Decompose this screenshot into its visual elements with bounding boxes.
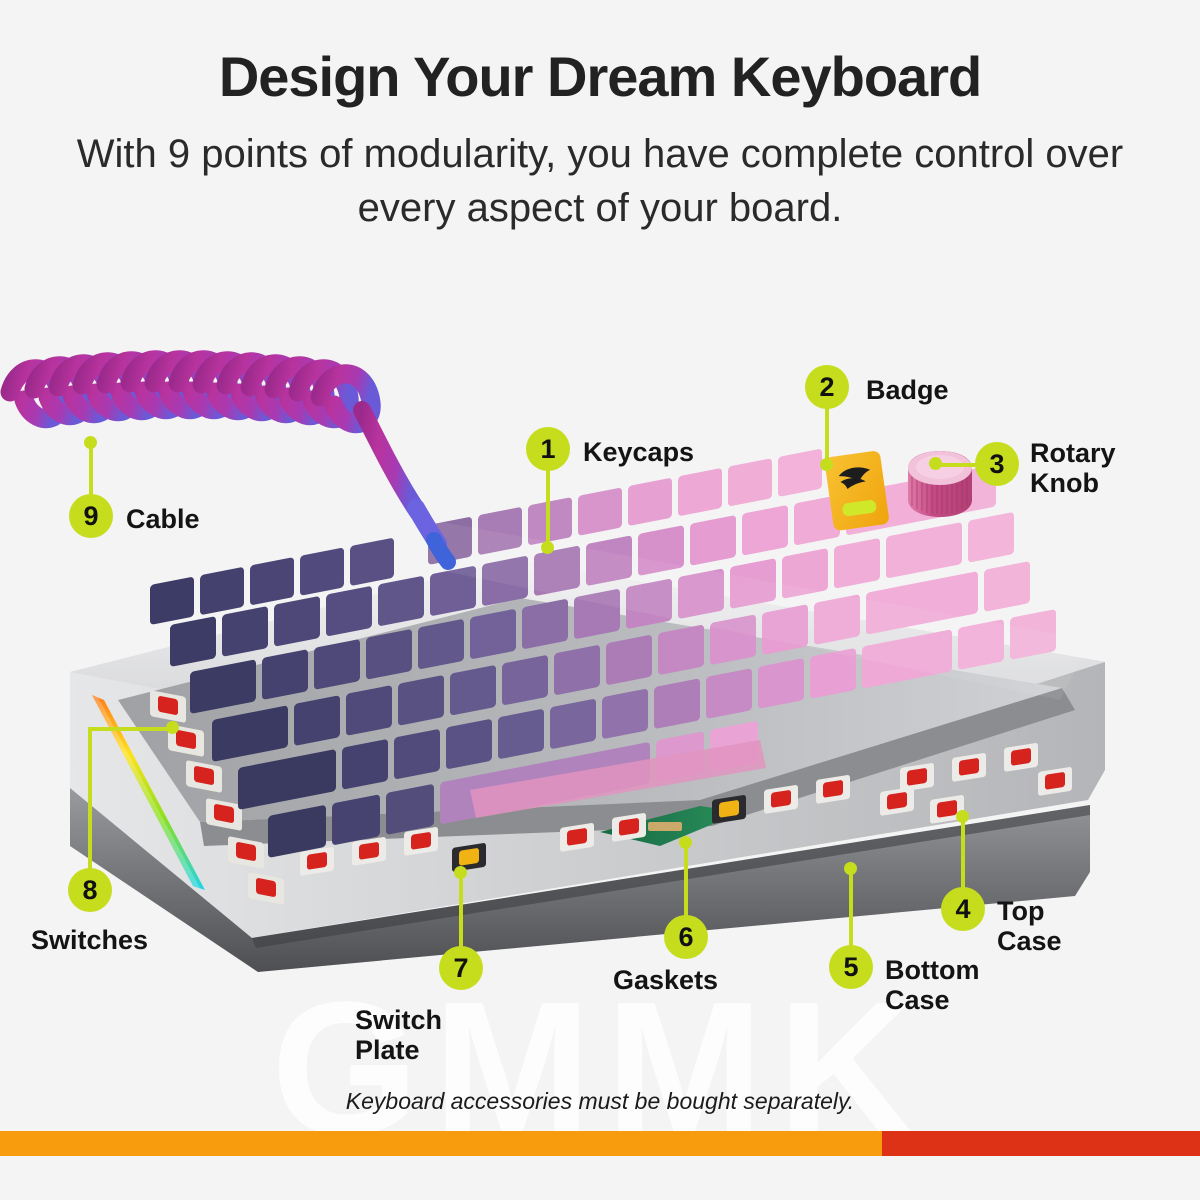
callout-label-switches: Switches — [31, 925, 148, 955]
leader-line-4 — [961, 814, 965, 890]
footer-bar-orange-segment — [0, 1131, 882, 1156]
anchor-dot-4 — [956, 810, 969, 823]
anchor-dot-3 — [929, 457, 942, 470]
callout-label-gaskets: Gaskets — [613, 965, 718, 995]
leader-line-8-vertical — [88, 727, 92, 870]
keyboard-illustration — [0, 0, 1200, 1200]
leader-line-8-horizontal — [88, 727, 174, 731]
callout-number-3[interactable]: 3 — [975, 442, 1019, 486]
callout-number-1[interactable]: 1 — [526, 427, 570, 471]
callout-number-7[interactable]: 7 — [439, 946, 483, 990]
footer-bar-red-segment — [882, 1131, 1200, 1156]
anchor-dot-2 — [820, 458, 833, 471]
disclaimer-text: Keyboard accessories must be bought sepa… — [0, 1088, 1200, 1115]
callout-label-badge: Badge — [866, 375, 949, 405]
callout-number-2[interactable]: 2 — [805, 365, 849, 409]
callout-label-cable: Cable — [126, 504, 200, 534]
anchor-dot-7 — [454, 866, 467, 879]
leader-line-2 — [825, 405, 829, 465]
callout-label-bottom-case: Bottom Case — [885, 955, 979, 1015]
callout-label-switch-plate: Switch Plate — [355, 1005, 442, 1065]
anchor-dot-6 — [679, 836, 692, 849]
footer-accent-bar — [0, 1131, 1200, 1156]
callout-label-rotary-knob: Rotary Knob — [1030, 438, 1116, 498]
leader-line-5 — [849, 866, 853, 948]
callout-label-top-case: Top Case — [997, 896, 1062, 956]
callout-number-9[interactable]: 9 — [69, 494, 113, 538]
badge-group — [824, 450, 890, 531]
callout-number-8[interactable]: 8 — [68, 868, 112, 912]
anchor-dot-1 — [541, 541, 554, 554]
anchor-dot-8 — [166, 721, 179, 734]
callout-number-5[interactable]: 5 — [829, 945, 873, 989]
anchor-dot-9 — [84, 436, 97, 449]
callout-number-6[interactable]: 6 — [664, 915, 708, 959]
leader-line-1 — [546, 470, 550, 548]
infographic-canvas: GMMK Design Your Dream Keyboard With 9 p… — [0, 0, 1200, 1200]
leader-line-7 — [459, 870, 463, 949]
callout-label-keycaps: Keycaps — [583, 437, 694, 467]
anchor-dot-5 — [844, 862, 857, 875]
callout-number-4[interactable]: 4 — [941, 887, 985, 931]
leader-line-6 — [684, 840, 688, 918]
